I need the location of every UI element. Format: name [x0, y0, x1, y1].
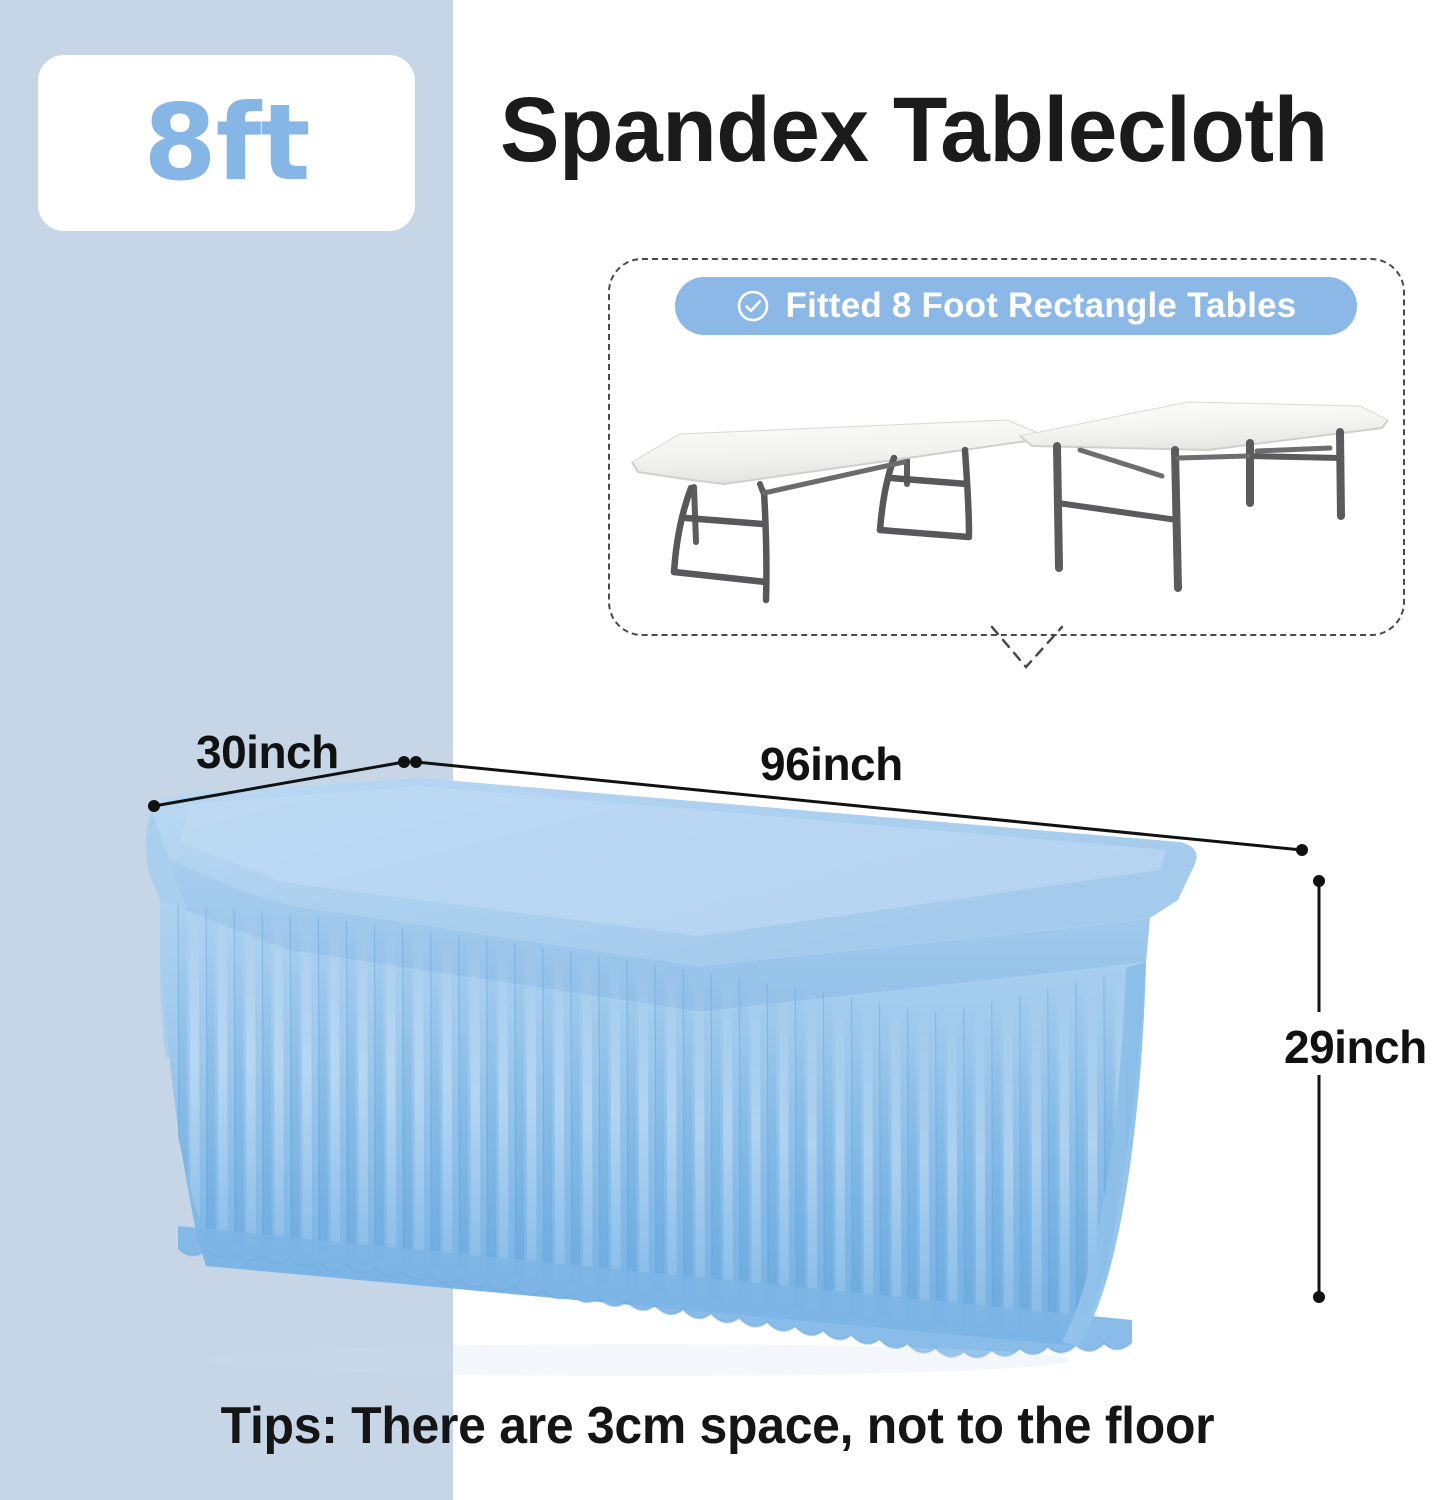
dimension-label-length: 96inch [760, 737, 903, 791]
folding-table-angled-image [624, 392, 1044, 632]
check-circle-icon [736, 289, 770, 323]
infographic-root: 8ft Spandex Tablecloth Fitted 8 Foot Rec… [0, 0, 1435, 1500]
spandex-tablecloth-illustration [0, 700, 1435, 1400]
dimension-label-depth: 30inch [196, 725, 339, 779]
dimension-label-height: 29inch [1284, 1020, 1427, 1074]
compatibility-badge-label: Fitted 8 Foot Rectangle Tables [786, 286, 1297, 326]
size-badge: 8ft [38, 55, 415, 231]
size-badge-label: 8ft [144, 91, 310, 196]
page-title: Spandex Tablecloth [500, 82, 1412, 179]
footer-tip: Tips: There are 3cm space, not to the fl… [29, 1396, 1407, 1456]
folding-table-front-image [1010, 388, 1410, 623]
compatibility-badge: Fitted 8 Foot Rectangle Tables [675, 277, 1357, 335]
